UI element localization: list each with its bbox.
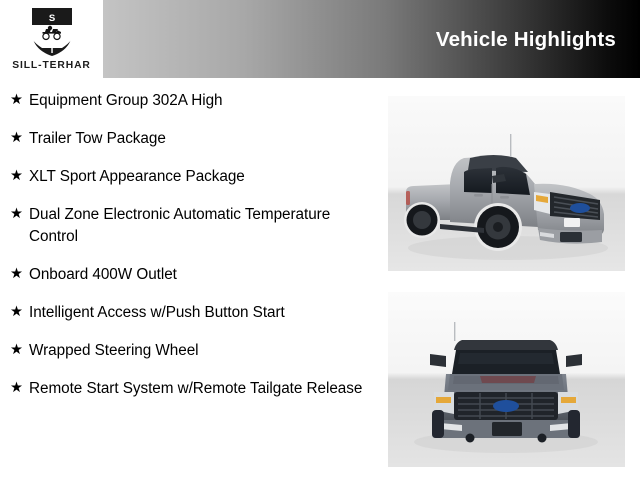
features-list: ★ Equipment Group 302A High ★ Trailer To…	[8, 90, 380, 416]
dealer-logo: S T SILL-TERHAR	[0, 0, 103, 82]
shield-logo-icon: S T	[29, 6, 75, 58]
feature-label: Trailer Tow Package	[29, 128, 166, 150]
list-item: ★ Remote Start System w/Remote Tailgate …	[8, 378, 380, 400]
vehicle-highlights-slide: Vehicle Highlights S T SILL-TERHAR ★ E	[0, 0, 640, 480]
vehicle-photo-front	[388, 292, 625, 467]
list-item: ★ Intelligent Access w/Push Button Start	[8, 302, 380, 324]
star-bullet-icon: ★	[8, 378, 29, 399]
list-item: ★ XLT Sport Appearance Package	[8, 166, 380, 188]
list-item: ★ Equipment Group 302A High	[8, 90, 380, 112]
svg-text:S: S	[48, 13, 54, 24]
feature-label: Equipment Group 302A High	[29, 90, 223, 112]
star-bullet-icon: ★	[8, 302, 29, 323]
list-item: ★ Onboard 400W Outlet	[8, 264, 380, 286]
feature-label: Dual Zone Electronic Automatic Temperatu…	[29, 204, 380, 247]
dealer-name: SILL-TERHAR	[12, 60, 91, 71]
truck-front-illustration	[388, 292, 625, 467]
feature-label: Wrapped Steering Wheel	[29, 340, 199, 362]
page-title: Vehicle Highlights	[436, 28, 616, 52]
feature-label: XLT Sport Appearance Package	[29, 166, 245, 188]
list-item: ★ Trailer Tow Package	[8, 128, 380, 150]
feature-label: Remote Start System w/Remote Tailgate Re…	[29, 378, 362, 400]
star-bullet-icon: ★	[8, 204, 29, 225]
list-item: ★ Dual Zone Electronic Automatic Tempera…	[8, 204, 380, 247]
list-item: ★ Wrapped Steering Wheel	[8, 340, 380, 362]
star-bullet-icon: ★	[8, 264, 29, 285]
vehicle-photo-front-three-quarter	[388, 96, 625, 271]
truck-three-quarter-illustration	[388, 96, 625, 271]
svg-text:T: T	[49, 45, 55, 56]
feature-label: Onboard 400W Outlet	[29, 264, 177, 286]
star-bullet-icon: ★	[8, 128, 29, 149]
star-bullet-icon: ★	[8, 340, 29, 361]
feature-label: Intelligent Access w/Push Button Start	[29, 302, 285, 324]
star-bullet-icon: ★	[8, 90, 29, 111]
star-bullet-icon: ★	[8, 166, 29, 187]
